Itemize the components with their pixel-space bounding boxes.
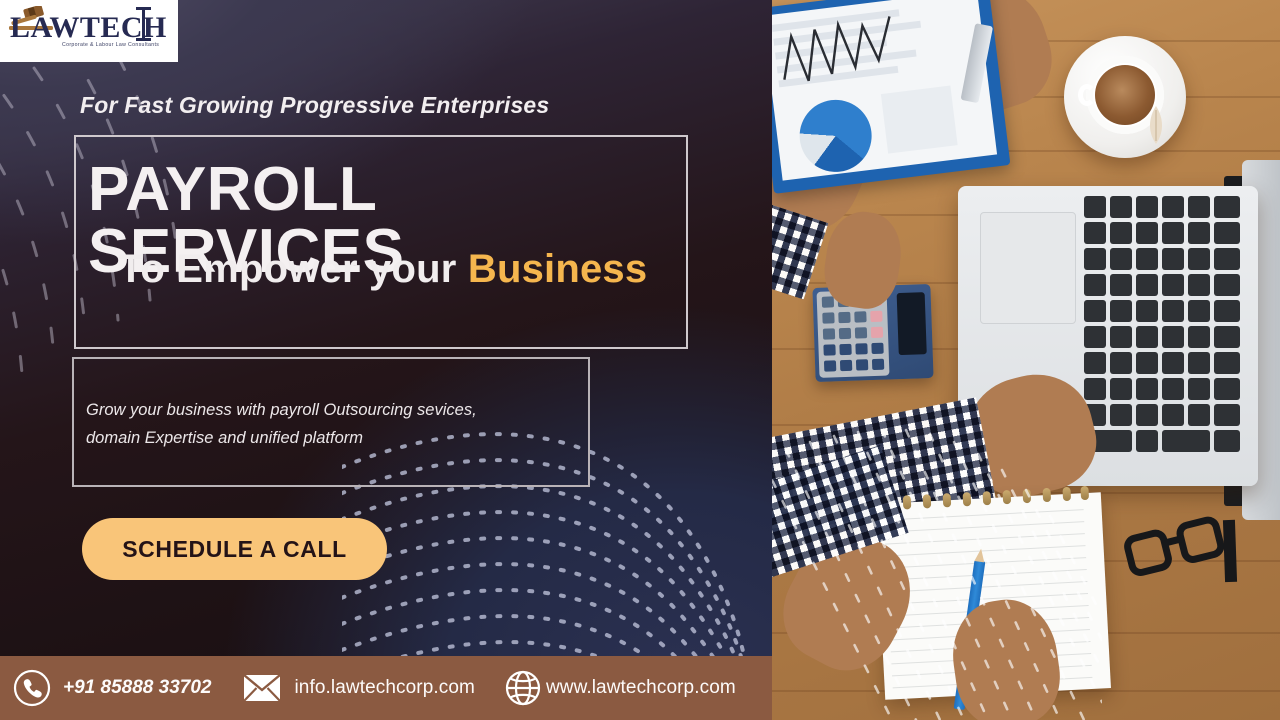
hero-description: Grow your business with payroll Outsourc… bbox=[86, 396, 578, 453]
description-line-2: domain Expertise and unified platform bbox=[86, 424, 578, 452]
contact-bar: +91 85888 33702 info.lawtechcorp.com bbox=[0, 656, 772, 720]
phone-icon bbox=[12, 668, 52, 708]
logo-tagline: Corporate & Labour Law Consultants bbox=[62, 42, 159, 48]
clipboard bbox=[772, 0, 1010, 194]
logo-i-serif bbox=[142, 7, 145, 41]
email-address: info.lawtechcorp.com bbox=[294, 677, 474, 699]
contact-email[interactable]: info.lawtechcorp.com bbox=[243, 673, 474, 703]
headline-frame: PAYROLL SERVICES To Empower your Busines… bbox=[74, 135, 688, 349]
latte-surface bbox=[1095, 65, 1155, 125]
latte-art-icon bbox=[1139, 105, 1173, 145]
envelope-icon bbox=[243, 673, 281, 703]
contact-website[interactable]: www.lawtechcorp.com bbox=[503, 668, 736, 708]
coffee-saucer bbox=[1064, 36, 1186, 158]
description-frame: Grow your business with payroll Outsourc… bbox=[72, 357, 590, 487]
hero-subheadline: To Empower your Business bbox=[76, 247, 690, 292]
calculator-display bbox=[897, 292, 927, 355]
schedule-a-call-button[interactable]: SCHEDULE A CALL bbox=[82, 518, 387, 580]
cup-handle bbox=[1078, 84, 1096, 106]
website-url: www.lawtechcorp.com bbox=[546, 677, 736, 699]
phone-number: +91 85888 33702 bbox=[63, 677, 211, 699]
contact-phone[interactable]: +91 85888 33702 bbox=[12, 668, 211, 708]
payroll-services-banner: LAWTECH Corporate & Labour Law Consultan… bbox=[0, 0, 1280, 720]
brand-logo[interactable]: LAWTECH Corporate & Labour Law Consultan… bbox=[0, 0, 178, 62]
hero-left-panel: LAWTECH Corporate & Labour Law Consultan… bbox=[0, 0, 772, 720]
globe-icon bbox=[503, 668, 543, 708]
desk-photo bbox=[772, 0, 1280, 720]
description-line-1: Grow your business with payroll Outsourc… bbox=[86, 401, 477, 419]
laptop-trackpad bbox=[980, 212, 1076, 324]
laptop-keyboard bbox=[1084, 196, 1244, 464]
hero-eyebrow: For Fast Growing Progressive Enterprises bbox=[80, 92, 549, 119]
line-chart-icon bbox=[775, 8, 903, 94]
subhead-accent: Business bbox=[468, 247, 647, 291]
photo-dash-overlay bbox=[772, 420, 1102, 720]
subhead-prefix: To Empower your bbox=[119, 247, 468, 291]
pie-chart bbox=[796, 96, 876, 176]
